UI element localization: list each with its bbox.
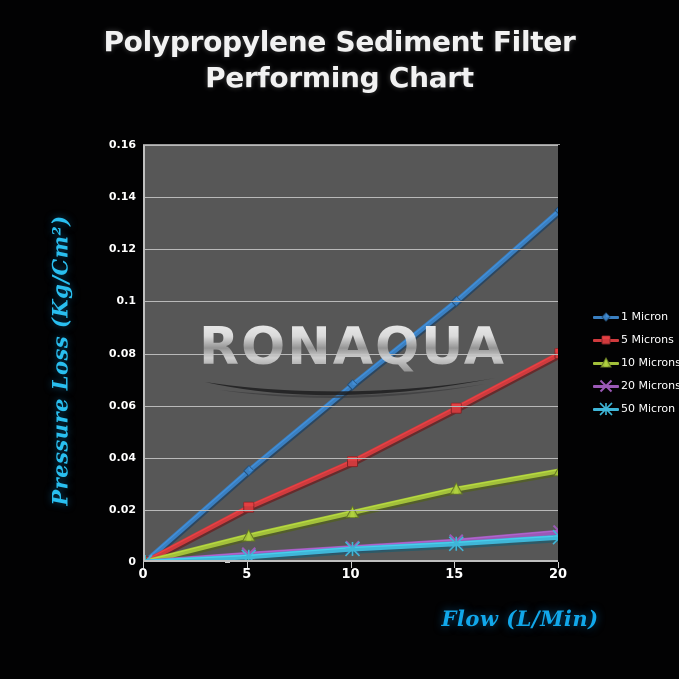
gridline bbox=[145, 510, 558, 511]
legend-item[interactable]: 20 Microns bbox=[593, 374, 679, 397]
y-axis-tick-label: 0.14 bbox=[92, 191, 136, 202]
legend-marker-icon bbox=[593, 333, 619, 347]
legend-item[interactable]: 1 Micron bbox=[593, 305, 679, 328]
data-point-marker-x bbox=[601, 380, 612, 391]
legend-item[interactable]: 10 Microns bbox=[593, 351, 679, 374]
x-axis-tick-mark bbox=[558, 562, 559, 568]
legend-label: 20 Microns bbox=[621, 380, 679, 392]
gridline bbox=[145, 406, 558, 407]
legend-marker-icon bbox=[593, 356, 619, 370]
gridline bbox=[145, 458, 558, 459]
legend-swatch-star-icon bbox=[593, 402, 619, 416]
data-point-marker-square bbox=[451, 403, 461, 413]
y-axis-tick-label: 0.04 bbox=[92, 452, 136, 463]
gridline bbox=[145, 301, 558, 302]
x-axis-tick-mark bbox=[143, 562, 144, 568]
legend-swatch-triangle-icon bbox=[593, 356, 619, 370]
data-point-marker-star bbox=[600, 403, 612, 415]
legend-label: 50 Micron bbox=[621, 403, 675, 415]
legend-label: 1 Micron bbox=[621, 311, 668, 323]
legend-swatch-diamond-icon bbox=[593, 310, 619, 324]
legend-item[interactable]: 5 Microns bbox=[593, 328, 679, 351]
y-axis-tick-label: 0.06 bbox=[92, 400, 136, 411]
data-point-marker-star bbox=[346, 542, 360, 556]
y-axis-tick-mark bbox=[225, 562, 230, 563]
legend-marker-icon bbox=[593, 310, 619, 324]
data-point-marker-diamond bbox=[602, 313, 610, 321]
legend-marker-icon bbox=[593, 402, 619, 416]
x-axis-tick-label: 15 bbox=[434, 568, 474, 582]
y-axis-tick-label: 0.12 bbox=[92, 243, 136, 254]
y-axis-tick-label: 0 bbox=[92, 556, 136, 567]
y-axis-tick-label: 0.02 bbox=[92, 504, 136, 515]
legend-label: 10 Microns bbox=[621, 357, 679, 369]
y-axis-tick-label: 0.08 bbox=[92, 348, 136, 359]
legend-item[interactable]: 50 Micron bbox=[593, 397, 679, 420]
gridline bbox=[145, 249, 558, 250]
y-axis-tick-label: 0.1 bbox=[92, 295, 136, 306]
legend-swatch-square-icon bbox=[593, 333, 619, 347]
x-axis-tick-label: 0 bbox=[123, 568, 163, 582]
x-axis-tick-label: 20 bbox=[538, 568, 578, 582]
gridline bbox=[145, 197, 558, 198]
x-axis-tick-mark bbox=[247, 562, 248, 568]
legend-label: 5 Microns bbox=[621, 334, 674, 346]
title-line-1: Polypropylene Sediment Filter bbox=[103, 25, 575, 58]
x-axis-title: Flow (L/Min) bbox=[380, 606, 660, 631]
y-axis-tick-label: 0.16 bbox=[92, 139, 136, 150]
legend-swatch-x-icon bbox=[593, 379, 619, 393]
x-axis-tick-label: 5 bbox=[227, 568, 267, 582]
legend-marker-icon bbox=[593, 379, 619, 393]
data-point-marker-triangle bbox=[601, 358, 611, 367]
x-axis-tick-mark bbox=[351, 562, 352, 568]
data-point-marker-star bbox=[449, 537, 463, 551]
x-axis-tick-label: 10 bbox=[331, 568, 371, 582]
y-axis-title: Pressure Loss (Kg/Cm²) bbox=[48, 196, 73, 526]
gridline bbox=[145, 145, 558, 146]
legend: 1 Micron5 Microns10 Microns20 Microns50 … bbox=[593, 305, 679, 420]
data-point-marker-square bbox=[602, 336, 610, 344]
gridline bbox=[145, 354, 558, 355]
x-axis-tick-mark bbox=[454, 562, 455, 568]
plot-area: RONAQUA bbox=[143, 145, 558, 562]
chart-figure: Polypropylene Sediment Filter Performing… bbox=[0, 0, 679, 679]
